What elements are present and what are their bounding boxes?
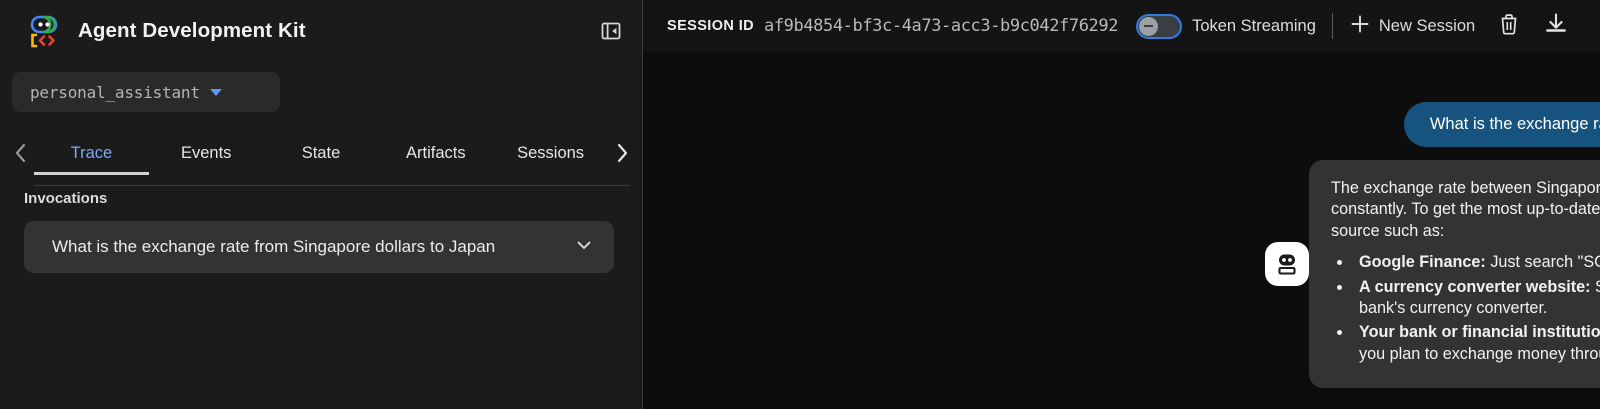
tab-sessions[interactable]: Sessions [493,131,608,175]
list-item: Google Finance: Just search "SGD to JPY"… [1353,252,1600,273]
chat-panel: SESSION ID af9b4854-bf3c-4a73-acc3-b9c04… [643,0,1600,409]
robot-icon [1273,250,1301,278]
brand-row: Agent Development Kit [0,0,642,62]
token-streaming-toggle[interactable] [1136,14,1182,39]
invocation-list-item[interactable]: What is the exchange rate from Singapore… [24,221,614,273]
assistant-bullet-list: Google Finance: Just search "SGD to JPY"… [1353,252,1600,365]
agent-select-value: personal_assistant [30,83,200,102]
list-item-text: Just search "SGD to JPY" on Google. [1486,253,1600,271]
agent-select-dropdown[interactable]: personal_assistant [12,72,280,112]
trash-icon [1497,12,1521,41]
tab-state[interactable]: State [264,131,379,175]
chevron-down-icon[interactable] [574,235,594,260]
new-session-button[interactable]: New Session [1349,13,1475,40]
delete-session-button[interactable] [1497,12,1521,41]
adk-robot-code-logo-icon [24,11,64,51]
user-message-bubble: What is the exchange rate from Singapore… [1404,102,1600,147]
tab-bar-divider [34,185,630,186]
tab-bar: Trace Events State Artifacts Sessions [0,130,642,176]
list-item: A currency converter website: Some popul… [1353,277,1600,320]
list-item-title: A currency converter website: [1359,278,1591,296]
download-session-button[interactable] [1543,11,1569,42]
assistant-paragraph: The exchange rate between Singapore Doll… [1331,178,1600,242]
chevron-left-icon[interactable] [6,133,34,173]
list-item-title: Your bank or financial institution: [1359,323,1600,341]
session-id-label: SESSION ID [667,18,754,34]
chevron-down-icon [210,89,222,96]
chevron-right-icon[interactable] [608,133,636,173]
invocation-item-label: What is the exchange rate from Singapore… [52,237,574,257]
chat-messages: What is the exchange rate from Singapore… [643,102,1600,388]
minus-icon [1144,25,1153,27]
bot-avatar [1265,242,1309,286]
new-session-label: New Session [1379,17,1475,36]
session-header: SESSION ID af9b4854-bf3c-4a73-acc3-b9c04… [643,0,1600,52]
left-sidebar-panel: Agent Development Kit personal_assistant… [0,0,643,409]
tab-list: Trace Events State Artifacts Sessions [34,130,608,176]
token-streaming-label: Token Streaming [1192,17,1316,36]
app-root: Agent Development Kit personal_assistant… [0,0,1600,409]
panel-collapse-left-icon[interactable] [598,18,624,44]
header-divider [1332,13,1333,39]
app-title: Agent Development Kit [78,19,306,43]
tab-trace[interactable]: Trace [34,131,149,175]
download-icon [1543,11,1569,42]
list-item: Your bank or financial institution: They… [1353,322,1600,365]
chat-message-assistant: The exchange rate between Singapore Doll… [643,160,1600,388]
tab-artifacts[interactable]: Artifacts [378,131,493,175]
tab-events[interactable]: Events [149,131,264,175]
session-id-value: af9b4854-bf3c-4a73-acc3-b9c042f76292 [764,16,1118,36]
list-item-title: Google Finance: [1359,253,1486,271]
invocations-heading: Invocations [24,190,642,207]
toggle-knob [1139,17,1158,36]
chat-message-user: What is the exchange rate from Singapore… [643,102,1600,150]
assistant-message-bubble: The exchange rate between Singapore Doll… [1309,160,1600,388]
plus-icon [1349,13,1371,40]
